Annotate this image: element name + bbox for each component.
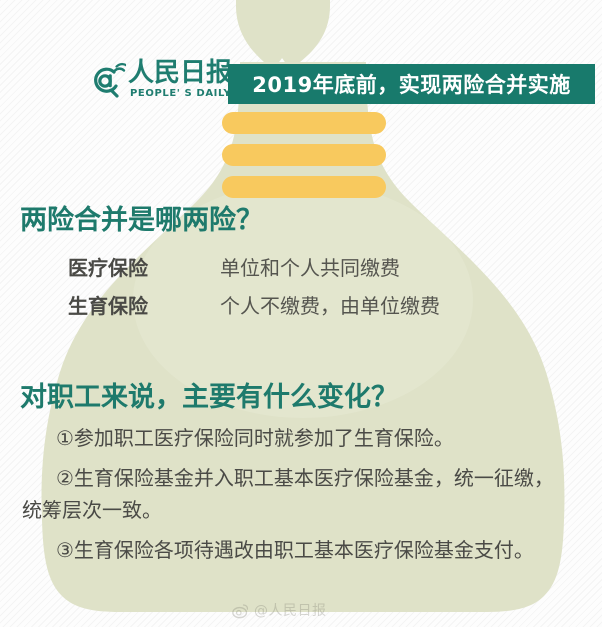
at-signal-logo-icon	[86, 60, 126, 100]
insurance-row-medical: 医疗保险 单位和个人共同缴费	[0, 252, 602, 282]
change-paragraph-3: ③生育保险各项待遇改由职工基本医疗保险基金支付。	[22, 534, 562, 566]
bag-tie-band-3	[222, 176, 386, 198]
logo-chinese-name: 人民日报	[128, 58, 232, 88]
insurance-value-medical: 单位和个人共同缴费	[220, 252, 400, 281]
peoples-daily-logo: 人民日报 PEOPLE' S DAILY	[86, 58, 236, 106]
logo-english-name: PEOPLE' S DAILY	[130, 88, 231, 99]
header: 人民日报 PEOPLE' S DAILY 2019年底前，实现两险合并实施	[0, 0, 602, 118]
insurance-label-medical: 医疗保险	[68, 252, 148, 281]
poster-canvas: 人民日报 PEOPLE' S DAILY 2019年底前，实现两险合并实施 两险…	[0, 0, 602, 627]
watermark: @人民日报	[232, 600, 327, 620]
insurance-value-maternity: 个人不缴费，由单位缴费	[220, 290, 440, 319]
insurance-label-maternity: 生育保险	[68, 290, 148, 319]
change-paragraph-1: ①参加职工医疗保险同时就参加了生育保险。	[22, 422, 562, 454]
weibo-icon	[232, 602, 249, 619]
section-heading-2: 对职工来说，主要有什么变化？	[20, 375, 398, 414]
watermark-text: @人民日报	[254, 600, 327, 620]
headline-banner: 2019年底前，实现两险合并实施	[228, 64, 595, 104]
bag-tie-band-2	[222, 144, 386, 166]
change-paragraph-2: ②生育保险基金并入职工基本医疗保险基金，统一征缴，统筹层次一致。	[22, 462, 562, 526]
headline-banner-text: 2019年底前，实现两险合并实施	[252, 69, 570, 99]
insurance-row-maternity: 生育保险 个人不缴费，由单位缴费	[0, 290, 602, 320]
section-heading-1: 两险合并是哪两险？	[20, 198, 263, 237]
